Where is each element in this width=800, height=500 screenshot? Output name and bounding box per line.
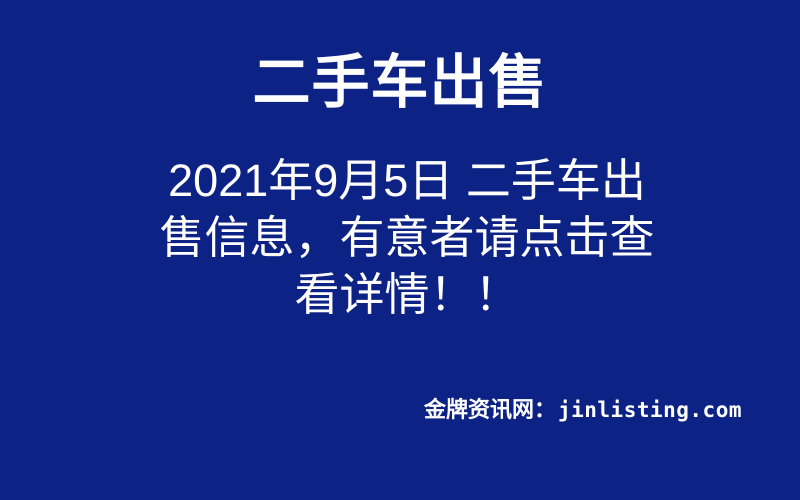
- poster-canvas: 二手车出售 2021年9月5日 二手车出 售信息，有意者请点击查 看详情！！ 金…: [0, 0, 800, 500]
- footer-domain-text: jinlisting.com: [558, 398, 742, 422]
- body-line: 看详情！！: [155, 266, 659, 323]
- page-title: 二手车出售: [0, 48, 800, 118]
- footer-credit: 金牌资讯网： jinlisting.com: [424, 392, 742, 424]
- footer-site-label: 金牌资讯网：: [424, 392, 556, 424]
- body-line: 售信息，有意者请点击查: [155, 209, 659, 266]
- body-line: 2021年9月5日 二手车出: [155, 152, 659, 209]
- poster-body-text: 2021年9月5日 二手车出 售信息，有意者请点击查 看详情！！: [155, 152, 659, 323]
